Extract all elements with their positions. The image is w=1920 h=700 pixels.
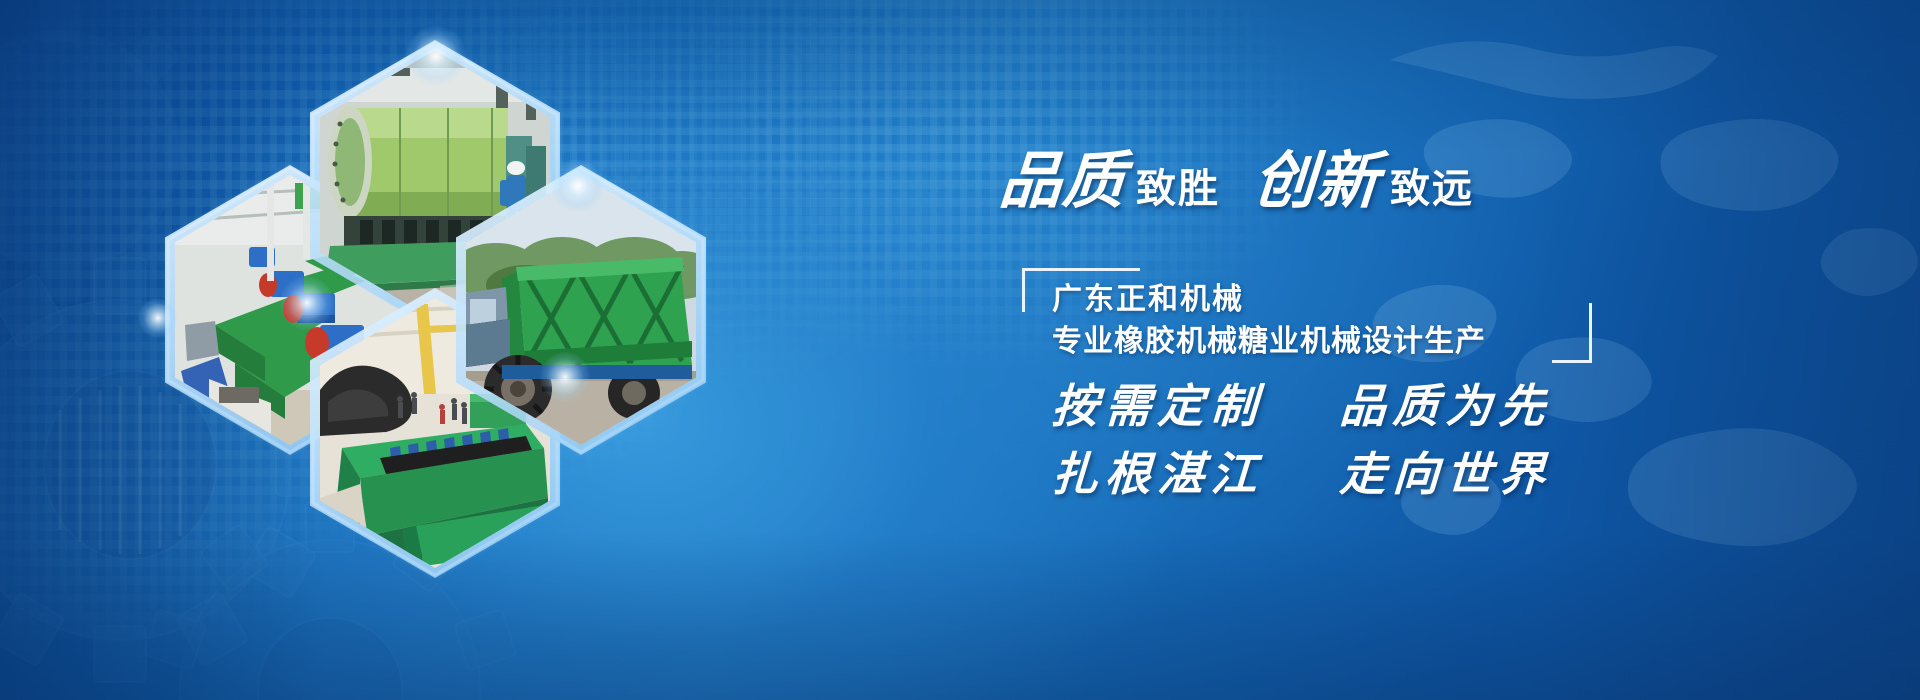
headline-bold-1: 致胜: [1136, 156, 1220, 214]
hexagon-photo-truck: [456, 165, 706, 455]
slogan-line-2: 扎根湛江 走向世界: [1050, 438, 1553, 504]
headline: 品质 致胜 创新 致远: [1000, 130, 1474, 220]
slogan-1-right: 品质为先: [1338, 379, 1553, 433]
slogan-line-1: 按需定制 品质为先: [1050, 370, 1553, 436]
promo-banner: 品质 致胜 创新 致远 广东正和机械 专业橡胶机械糖业机械设计生产 按需定制 品…: [0, 0, 1920, 700]
headline-brush-1: 品质: [997, 130, 1129, 220]
subtitle-line-2: 专业橡胶机械糖业机械设计生产: [1052, 316, 1486, 360]
copy-block: 品质 致胜 创新 致远 广东正和机械 专业橡胶机械糖业机械设计生产 按需定制 品…: [1000, 120, 1780, 590]
slogan-2-left: 扎根湛江: [1050, 447, 1265, 501]
headline-bold-2: 致远: [1390, 156, 1474, 214]
corner-bracket-bottom-right: [1552, 303, 1592, 363]
subtitle-line-1: 广东正和机械: [1052, 274, 1244, 318]
headline-brush-2: 创新: [1251, 130, 1383, 220]
hexagon-photo-cluster: [120, 40, 880, 560]
slogan-1-left: 按需定制: [1050, 379, 1265, 433]
slogan-2-right: 走向世界: [1338, 447, 1553, 501]
subtitle-box: 广东正和机械 专业橡胶机械糖业机械设计生产: [1022, 268, 1592, 363]
